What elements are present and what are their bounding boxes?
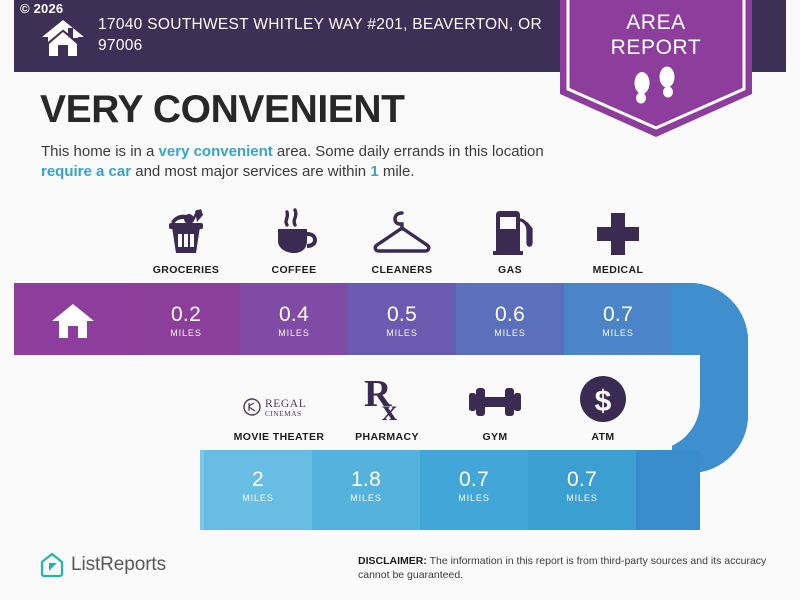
distance-value: 1.8 bbox=[312, 468, 420, 492]
badge-line-2: REPORT bbox=[556, 35, 756, 60]
amenity-cleaners: CLEANERS bbox=[348, 205, 456, 276]
amenity-pharmacy: R x PHARMACY bbox=[333, 372, 441, 443]
distance-gym: 0.7 MILES bbox=[420, 468, 528, 503]
area-report-badge: AREA REPORT bbox=[556, 0, 756, 141]
amenity-movie-theater: REGAL CINEMAS MOVIE THEATER bbox=[225, 372, 333, 443]
distance-value: 0.5 bbox=[348, 303, 456, 327]
amenity-label: GAS bbox=[456, 264, 564, 276]
home-icon bbox=[50, 302, 96, 340]
distance-coffee: 0.4 MILES bbox=[240, 303, 348, 338]
distance-cleaners: 0.5 MILES bbox=[348, 303, 456, 338]
amenity-label: MEDICAL bbox=[564, 264, 672, 276]
copyright-label: © 2026 bbox=[20, 2, 63, 16]
distance-value: 0.7 bbox=[420, 468, 528, 492]
distance-unit: MILES bbox=[564, 328, 672, 338]
badge-line-1: AREA bbox=[556, 10, 756, 35]
distance-unit: MILES bbox=[132, 328, 240, 338]
page-title: VERY CONVENIENT bbox=[40, 88, 405, 132]
distance-movie-theater: 2 MILES bbox=[204, 468, 312, 503]
amenity-label: GROCERIES bbox=[132, 264, 240, 276]
hanger-icon bbox=[348, 205, 456, 257]
area-report-page: © 2026 17040 SOUTHWEST WHITLEY WAY #201,… bbox=[0, 0, 800, 600]
property-address: 17040 SOUTHWEST WHITLEY WAY #201, BEAVER… bbox=[98, 14, 548, 56]
summary-highlight-3: 1 bbox=[370, 163, 378, 180]
distance-unit: MILES bbox=[312, 493, 420, 503]
distance-atm: 0.7 MILES bbox=[528, 468, 636, 503]
footprints-icon bbox=[628, 66, 684, 108]
amenity-groceries: GROCERIES bbox=[132, 205, 240, 276]
coffee-cup-icon bbox=[240, 205, 348, 257]
summary-part-1: This home is in a bbox=[41, 143, 159, 160]
distance-unit: MILES bbox=[348, 328, 456, 338]
disclaimer-label: DISCLAIMER: bbox=[358, 555, 427, 567]
distance-groceries: 0.2 MILES bbox=[132, 303, 240, 338]
distance-unit: MILES bbox=[456, 328, 564, 338]
summary-part-4: mile. bbox=[379, 163, 415, 180]
badge-title: AREA REPORT bbox=[556, 10, 756, 60]
medical-cross-icon bbox=[564, 205, 672, 257]
amenity-gym: GYM bbox=[441, 372, 549, 443]
dumbbell-icon bbox=[441, 372, 549, 424]
summary-highlight-2: require a car bbox=[41, 163, 131, 180]
dollar-circle-icon: $ bbox=[549, 372, 657, 424]
amenity-coffee: COFFEE bbox=[240, 205, 348, 276]
amenity-label: COFFEE bbox=[240, 264, 348, 276]
amenity-label: GYM bbox=[441, 431, 549, 443]
summary-text: This home is in a very convenient area. … bbox=[41, 142, 561, 182]
distance-value: 0.4 bbox=[240, 303, 348, 327]
gas-pump-icon bbox=[456, 205, 564, 257]
summary-part-2: area. Some daily errands in this locatio… bbox=[273, 143, 544, 160]
amenity-label: MOVIE THEATER bbox=[225, 431, 333, 443]
distance-value: 0.7 bbox=[528, 468, 636, 492]
listreports-house-icon bbox=[40, 552, 64, 578]
distance-unit: MILES bbox=[420, 493, 528, 503]
distance-unit: MILES bbox=[204, 493, 312, 503]
home-icon bbox=[40, 18, 86, 58]
amenity-label: ATM bbox=[549, 431, 657, 443]
svg-text:x: x bbox=[382, 394, 397, 424]
amenity-atm: $ ATM bbox=[549, 372, 657, 443]
amenity-label: PHARMACY bbox=[333, 431, 441, 443]
amenity-gas: GAS bbox=[456, 205, 564, 276]
rx-icon: R x bbox=[333, 372, 441, 424]
distance-value: 0.6 bbox=[456, 303, 564, 327]
amenity-label: CLEANERS bbox=[348, 264, 456, 276]
summary-part-3: and most major services are within bbox=[131, 163, 370, 180]
grocery-basket-icon bbox=[132, 205, 240, 257]
distance-gas: 0.6 MILES bbox=[456, 303, 564, 338]
listreports-wordmark: ListReports bbox=[71, 554, 166, 576]
svg-text:$: $ bbox=[595, 385, 612, 418]
amenity-medical: MEDICAL bbox=[564, 205, 672, 276]
distance-unit: MILES bbox=[240, 328, 348, 338]
listreports-logo: ListReports bbox=[40, 552, 166, 578]
distance-value: 0.2 bbox=[132, 303, 240, 327]
distance-unit: MILES bbox=[528, 493, 636, 503]
svg-text:CINEMAS: CINEMAS bbox=[265, 409, 302, 418]
distance-value: 0.7 bbox=[564, 303, 672, 327]
summary-highlight-1: very convenient bbox=[159, 143, 273, 160]
regal-cinemas-logo: REGAL CINEMAS bbox=[225, 372, 333, 424]
disclaimer: DISCLAIMER: The information in this repo… bbox=[358, 554, 783, 582]
distance-pharmacy: 1.8 MILES bbox=[312, 468, 420, 503]
distance-medical: 0.7 MILES bbox=[564, 303, 672, 338]
distance-value: 2 bbox=[204, 468, 312, 492]
